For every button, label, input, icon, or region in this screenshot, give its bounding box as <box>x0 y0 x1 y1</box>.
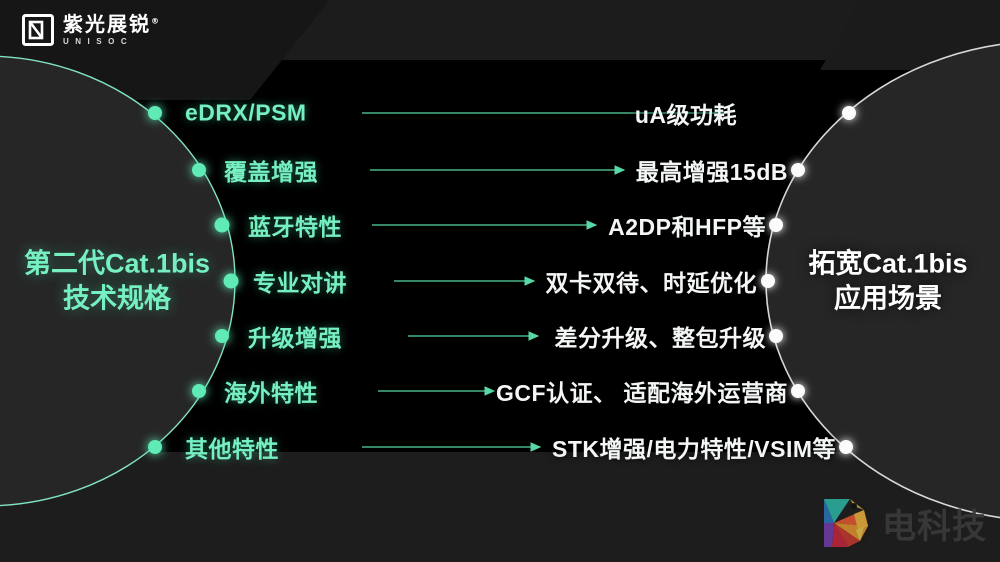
brand-name-en: UNISOC <box>63 38 159 46</box>
brand-logo: 紫光展锐® UNISOC <box>22 14 159 46</box>
right-dot-1 <box>842 106 856 120</box>
watermark: 电科技 <box>820 496 987 550</box>
left-label-7[interactable]: 其他特性 <box>185 430 279 464</box>
left-caption-line1: 第二代Cat.1bis <box>24 248 210 278</box>
dianketech-logo-icon <box>820 496 874 550</box>
right-dot-2 <box>791 163 805 177</box>
registered-mark: ® <box>151 16 159 25</box>
right-caption-line1: 拓宽Cat.1bis <box>808 248 967 278</box>
left-dot-1 <box>148 106 162 120</box>
right-label-1[interactable]: uA级功耗 <box>635 96 737 130</box>
left-caption-line2: 技术规格 <box>24 281 210 316</box>
brand-wordmark: 紫光展锐® UNISOC <box>63 14 159 46</box>
right-label-5[interactable]: 差分升级、整包升级 <box>555 319 767 353</box>
right-dot-7 <box>839 440 853 454</box>
left-label-6[interactable]: 海外特性 <box>224 374 318 408</box>
right-caption-line2: 应用场景 <box>808 281 967 316</box>
left-dot-5 <box>215 329 229 343</box>
right-label-3[interactable]: A2DP和HFP等 <box>608 208 766 242</box>
left-dot-2 <box>192 163 206 177</box>
left-label-3[interactable]: 蓝牙特性 <box>248 208 342 242</box>
left-dot-4 <box>224 274 239 289</box>
left-label-4[interactable]: 专业对讲 <box>253 264 347 298</box>
left-circle-caption: 第二代Cat.1bis 技术规格 <box>24 246 210 315</box>
right-label-7[interactable]: STK增强/电力特性/VSIM等 <box>552 430 836 464</box>
left-dot-7 <box>148 440 162 454</box>
right-dot-4 <box>761 274 775 288</box>
slide-canvas: eDRX/PSM 覆盖增强 蓝牙特性 专业对讲 升级增强 海外特性 其他特性 u… <box>0 0 1000 562</box>
right-label-6[interactable]: GCF认证、 适配海外运营商 <box>496 374 788 408</box>
left-label-1[interactable]: eDRX/PSM <box>185 100 307 127</box>
right-label-2[interactable]: 最高增强15dB <box>636 153 788 187</box>
watermark-text: 电科技 <box>882 499 987 548</box>
unisoc-logo-icon <box>22 14 54 46</box>
left-label-2[interactable]: 覆盖增强 <box>224 153 318 187</box>
right-label-4[interactable]: 双卡双待、时延优化 <box>546 264 758 298</box>
right-dot-5 <box>769 329 783 343</box>
left-dot-3 <box>215 218 230 233</box>
left-dot-6 <box>192 384 206 398</box>
left-label-5[interactable]: 升级增强 <box>248 319 342 353</box>
right-circle-caption: 拓宽Cat.1bis 应用场景 <box>808 246 967 315</box>
brand-name-cn: 紫光展锐® <box>63 14 159 34</box>
right-dot-6 <box>791 384 805 398</box>
right-dot-3 <box>769 218 783 232</box>
